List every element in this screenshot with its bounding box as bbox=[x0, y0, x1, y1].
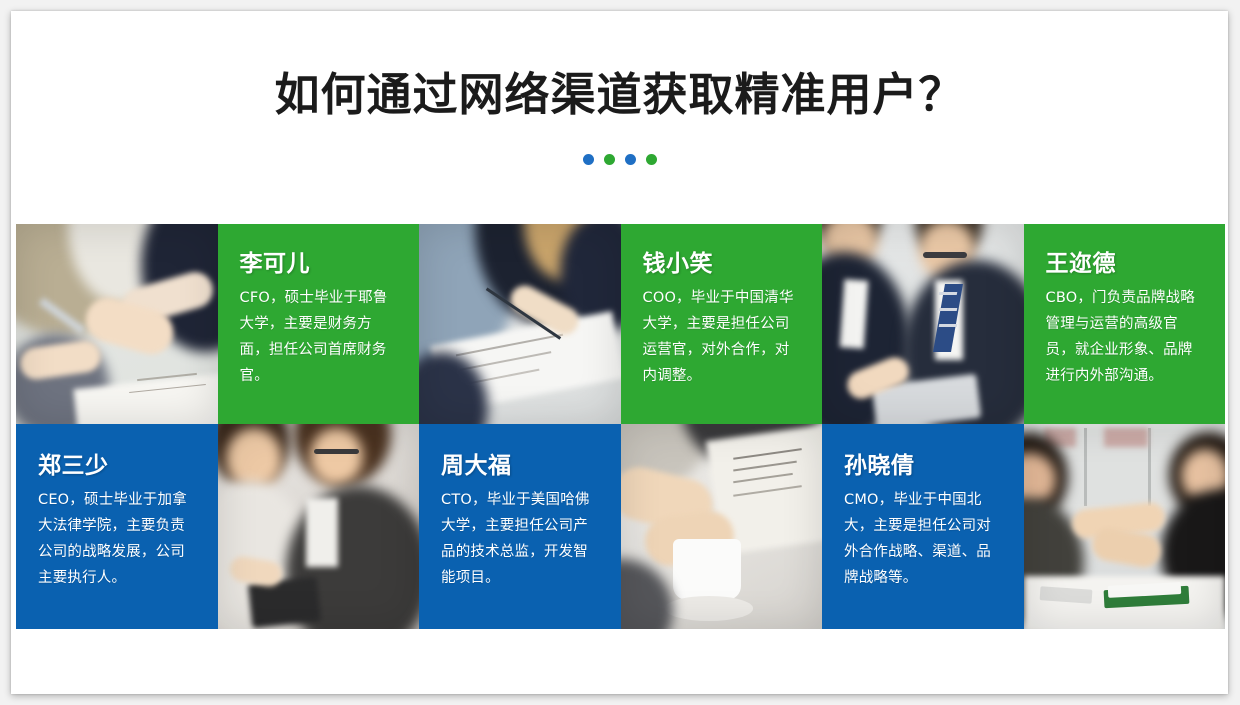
page-title-wrapper: 如何通过网络渠道获取精准用户？ bbox=[11, 67, 1228, 123]
team-photo-cell-2 bbox=[419, 224, 621, 424]
presentation-stage: 如何通过网络渠道获取精准用户？ bbox=[0, 0, 1240, 705]
team-panel-cell-1[interactable]: 李可儿 CFO，硕士毕业于耶鲁大学，主要是财务方面，担任公司首席财务官。 bbox=[218, 224, 420, 424]
team-panel-cell-2[interactable]: 钱小笑 COO，毕业于中国清华大学，主要是担任公司运营官，对外合作，对内调整。 bbox=[621, 224, 823, 424]
team-member-description: CFO，硕士毕业于耶鲁大学，主要是财务方面，担任公司首席财务官。 bbox=[240, 285, 398, 389]
team-panel-cell-3[interactable]: 王迩德 CBO，门负责品牌战略管理与运营的高级官员，就企业形象、品牌进行内外部沟… bbox=[1024, 224, 1226, 424]
dot-4-icon bbox=[646, 154, 657, 165]
team-panel-cell-6[interactable]: 孙晓倩 CMO，毕业于中国北大，主要是担任公司对外合作战略、渠道、品牌战略等。 bbox=[822, 424, 1024, 629]
team-member-name: 王迩德 bbox=[1046, 250, 1204, 278]
team-panel-cell-5[interactable]: 周大福 CTO，毕业于美国哈佛大学，主要担任公司产品的技术总监，开发智能项目。 bbox=[419, 424, 621, 629]
team-photo-cell-4 bbox=[218, 424, 420, 629]
team-photo-cell-6 bbox=[1024, 424, 1226, 629]
handshake-contract-photo bbox=[16, 224, 218, 424]
title-dot-decoration bbox=[11, 154, 1228, 165]
team-card-6[interactable]: 孙晓倩 CMO，毕业于中国北大，主要是担任公司对外合作战略、渠道、品牌战略等。 bbox=[822, 424, 1024, 629]
team-member-name: 孙晓倩 bbox=[844, 452, 1002, 480]
hands-coffee-newspaper-photo bbox=[621, 424, 823, 629]
team-card-3[interactable]: 王迩德 CBO，门负责品牌战略管理与运营的高级官员，就企业形象、品牌进行内外部沟… bbox=[1024, 224, 1226, 424]
woman-with-document-photo bbox=[419, 224, 621, 424]
team-card-1[interactable]: 李可儿 CFO，硕士毕业于耶鲁大学，主要是财务方面，担任公司首席财务官。 bbox=[218, 224, 420, 424]
team-member-description: CTO，毕业于美国哈佛大学，主要担任公司产品的技术总监，开发智能项目。 bbox=[441, 487, 599, 591]
two-men-with-tablet-photo bbox=[822, 224, 1024, 424]
team-member-name: 周大福 bbox=[441, 452, 599, 480]
dot-3-icon bbox=[625, 154, 636, 165]
team-member-description: CEO，硕士毕业于加拿大法律学院，主要负责公司的战略发展，公司主要执行人。 bbox=[38, 487, 196, 591]
team-card-4[interactable]: 郑三少 CEO，硕士毕业于加拿大法律学院，主要负责公司的战略发展，公司主要执行人… bbox=[16, 424, 218, 629]
team-photo-cell-3 bbox=[822, 224, 1024, 424]
team-member-description: COO，毕业于中国清华大学，主要是担任公司运营官，对外合作，对内调整。 bbox=[643, 285, 801, 389]
slide-canvas: 如何通过网络渠道获取精准用户？ bbox=[11, 11, 1228, 694]
team-grid: 李可儿 CFO，硕士毕业于耶鲁大学，主要是财务方面，担任公司首席财务官。 bbox=[16, 224, 1225, 630]
team-member-description: CBO，门负责品牌战略管理与运营的高级官员，就企业形象、品牌进行内外部沟通。 bbox=[1046, 285, 1204, 389]
team-member-name: 李可儿 bbox=[240, 250, 398, 278]
dot-1-icon bbox=[583, 154, 594, 165]
team-photo-cell-5 bbox=[621, 424, 823, 629]
team-card-5[interactable]: 周大福 CTO，毕业于美国哈佛大学，主要担任公司产品的技术总监，开发智能项目。 bbox=[419, 424, 621, 629]
dot-2-icon bbox=[604, 154, 615, 165]
team-member-name: 郑三少 bbox=[38, 452, 196, 480]
team-photo-cell-1 bbox=[16, 224, 218, 424]
page-title: 如何通过网络渠道获取精准用户？ bbox=[11, 67, 1228, 123]
two-women-at-laptop-photo bbox=[218, 424, 420, 629]
team-card-2[interactable]: 钱小笑 COO，毕业于中国清华大学，主要是担任公司运营官，对外合作，对内调整。 bbox=[621, 224, 823, 424]
team-member-name: 钱小笑 bbox=[643, 250, 801, 278]
meeting-handshake-photo bbox=[1024, 424, 1226, 629]
team-member-description: CMO，毕业于中国北大，主要是担任公司对外合作战略、渠道、品牌战略等。 bbox=[844, 487, 1002, 591]
team-panel-cell-4[interactable]: 郑三少 CEO，硕士毕业于加拿大法律学院，主要负责公司的战略发展，公司主要执行人… bbox=[16, 424, 218, 629]
